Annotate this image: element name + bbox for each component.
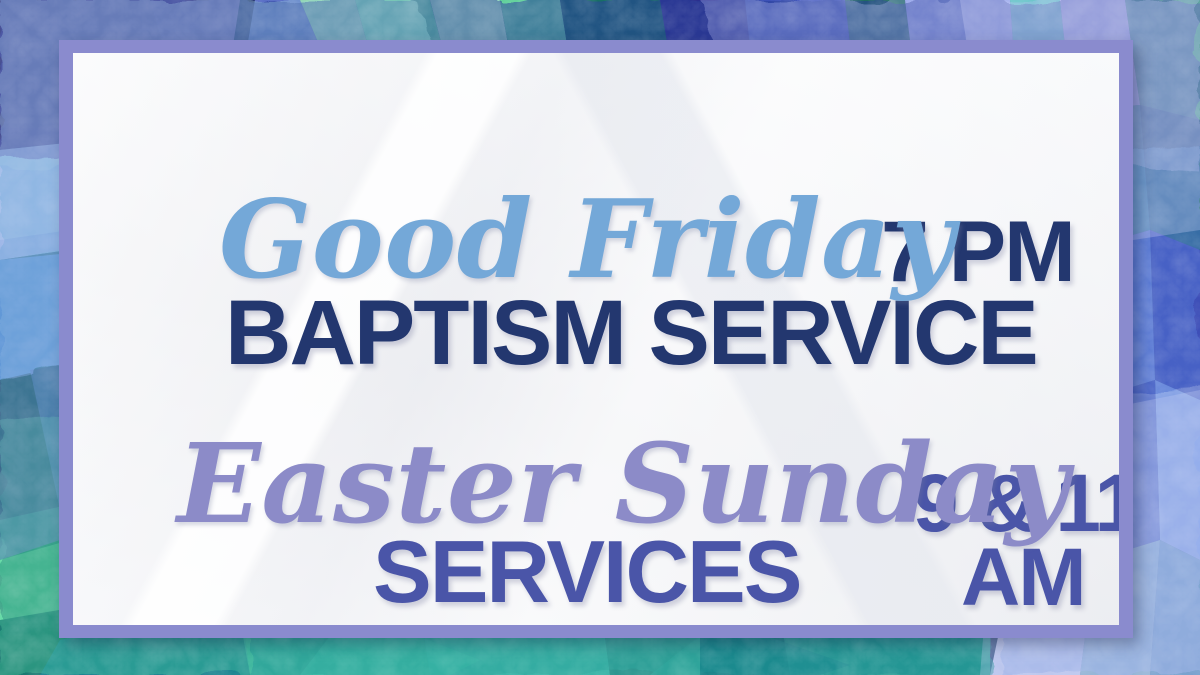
poster-frame: Good Friday 7 PM BAPTISM SERVICE Easter … (59, 40, 1133, 638)
easter-sunday-script-title: Easter Sunday (177, 419, 1069, 548)
good-friday-script-title: Good Friday (219, 177, 955, 303)
poster-canvas: Good Friday 7 PM BAPTISM SERVICE Easter … (0, 0, 1200, 675)
poster-panel: Good Friday 7 PM BAPTISM SERVICE Easter … (73, 53, 1119, 625)
